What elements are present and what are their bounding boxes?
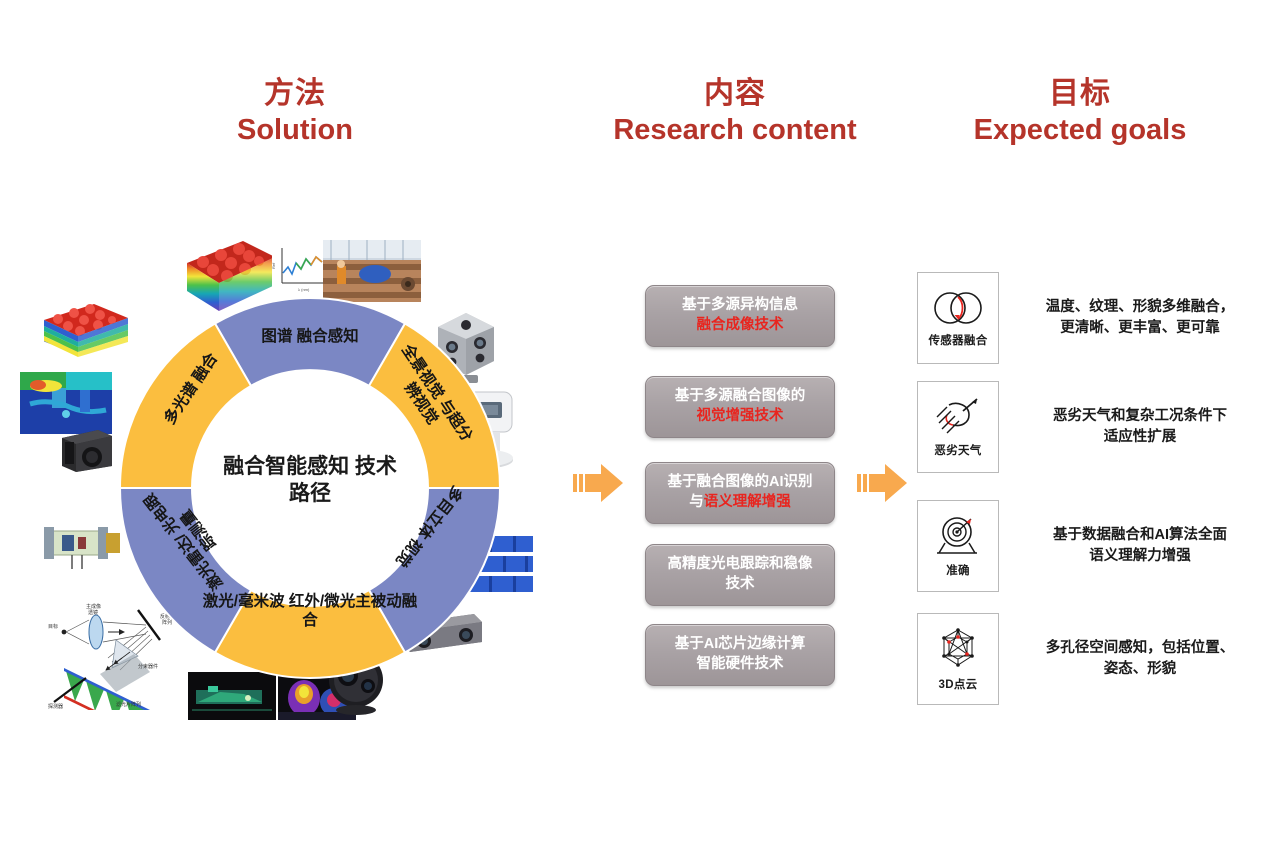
header-goals-cn: 目标 — [930, 76, 1230, 111]
thermal-camera-box-thumb — [58, 424, 116, 474]
research-content-box-5[interactable]: 基于AI芯片边缘计算 智能硬件技术 — [645, 624, 835, 686]
rc-box-1-line2: 融合成像技术 — [682, 316, 798, 336]
column-header-solution: 方法 Solution — [145, 76, 445, 148]
donut-center-title: 融合智能感知 技术路径 — [215, 453, 405, 508]
sensor-fusion-icon — [931, 289, 985, 327]
rc-box-3-line2-plain: 与 — [689, 494, 704, 510]
svg-text:探测器: 探测器 — [48, 703, 63, 710]
goal-text-2-line2: 适应性扩展 — [1026, 427, 1254, 448]
goal-caption-3: 准确 — [946, 562, 970, 578]
goal-row-point-cloud[interactable]: 3D点云 多孔径空间感知，包括位置、 姿态、形貌 — [917, 613, 1254, 705]
svg-text:Ref: Ref — [272, 262, 276, 269]
column-header-research-content: 内容 Research content — [585, 76, 885, 148]
rc-box-4-line2: 技术 — [668, 575, 813, 595]
goal-text-3: 基于数据融合和AI算法全面 语义理解力增强 — [1026, 525, 1254, 567]
research-content-box-4[interactable]: 高精度光电跟踪和稳像 技术 — [645, 544, 835, 606]
goal-text-4-line2: 姿态、形貌 — [1026, 659, 1254, 680]
target-accuracy-icon-card: 准确 — [917, 500, 999, 592]
goal-text-3-line1: 基于数据融合和AI算法全面 — [1026, 525, 1254, 546]
arrow-content-to-goals — [855, 455, 911, 516]
goal-text-3-line2: 语义理解力增强 — [1026, 546, 1254, 567]
research-content-box-2[interactable]: 基于多源融合图像的 视觉增强技术 — [645, 376, 835, 438]
target-accuracy-icon — [933, 515, 983, 557]
svg-text:滤光片阵列: 滤光片阵列 — [116, 701, 141, 708]
rc-box-3-line1: 基于融合图像的AI识别 — [668, 473, 813, 493]
header-goals-en: Expected goals — [930, 113, 1230, 147]
bad-weather-icon — [933, 397, 983, 437]
header-content-cn: 内容 — [585, 76, 885, 111]
svg-text:主成像: 主成像 — [86, 603, 101, 610]
sensor-fusion-icon-card: 传感器融合 — [917, 272, 999, 364]
goal-caption-1: 传感器融合 — [929, 332, 988, 348]
research-content-box-3[interactable]: 基于融合图像的AI识别 与语义理解增强 — [645, 462, 835, 524]
goal-row-sensor-fusion[interactable]: 传感器融合 温度、纹理、形貌多维融合， 更清晰、更丰富、更可靠 — [917, 272, 1254, 364]
goal-text-4-line1: 多孔径空间感知，包括位置、 — [1026, 638, 1254, 659]
header-content-en: Research content — [585, 113, 885, 147]
bad-weather-icon-card: 恶劣天气 — [917, 381, 999, 473]
research-content-box-1[interactable]: 基于多源异构信息 融合成像技术 — [645, 285, 835, 347]
rc-box-4-line1: 高精度光电跟踪和稳像 — [668, 555, 813, 575]
goal-text-1-line2: 更清晰、更丰富、更可靠 — [1026, 318, 1254, 339]
svg-text:目标: 目标 — [48, 623, 58, 630]
goal-caption-2: 恶劣天气 — [934, 442, 981, 458]
goal-text-2-line1: 恶劣天气和复杂工况条件下 — [1026, 406, 1254, 427]
header-solution-en: Solution — [145, 113, 445, 147]
rc-box-2-line1: 基于多源融合图像的 — [675, 387, 806, 407]
rc-box-1-line1: 基于多源异构信息 — [682, 296, 798, 316]
svg-text:透镜: 透镜 — [88, 609, 98, 616]
arrow-solution-to-content — [571, 455, 627, 516]
column-header-expected-goals: 目标 Expected goals — [930, 76, 1230, 148]
rc-box-3-line2-highlight: 语义理解增强 — [704, 494, 791, 510]
goal-row-accuracy[interactable]: 准确 基于数据融合和AI算法全面 语义理解力增强 — [917, 500, 1254, 592]
goal-row-bad-weather[interactable]: 恶劣天气 恶劣天气和复杂工况条件下 适应性扩展 — [917, 381, 1254, 473]
goal-text-2: 恶劣天气和复杂工况条件下 适应性扩展 — [1026, 406, 1254, 448]
header-solution-cn: 方法 — [145, 76, 445, 111]
point-cloud-icon-card: 3D点云 — [917, 613, 999, 705]
rc-box-2-line2: 视觉增强技术 — [675, 407, 806, 427]
rc-box-3-line2: 与语义理解增强 — [668, 493, 813, 513]
goal-text-1: 温度、纹理、形貌多维融合， 更清晰、更丰富、更可靠 — [1026, 297, 1254, 339]
donut-center-line1: 融合智能感知 — [223, 455, 349, 478]
rc-box-5-line1: 基于AI芯片边缘计算 — [675, 635, 806, 655]
point-cloud-icon — [934, 627, 982, 671]
rc-box-5-line2: 智能硬件技术 — [675, 655, 806, 675]
solution-donut-chart: 图谱 融合感知 全景视觉 与超分辨视觉 多目立体 视觉 激光/毫米波 红外/微光… — [110, 288, 510, 688]
goal-caption-4: 3D点云 — [939, 676, 978, 692]
diagram-canvas: 方法 Solution 内容 Research content 目标 Expec… — [0, 0, 1268, 866]
goal-text-1-line1: 温度、纹理、形貌多维融合， — [1026, 297, 1254, 318]
goal-text-4: 多孔径空间感知，包括位置、 姿态、形貌 — [1026, 638, 1254, 680]
